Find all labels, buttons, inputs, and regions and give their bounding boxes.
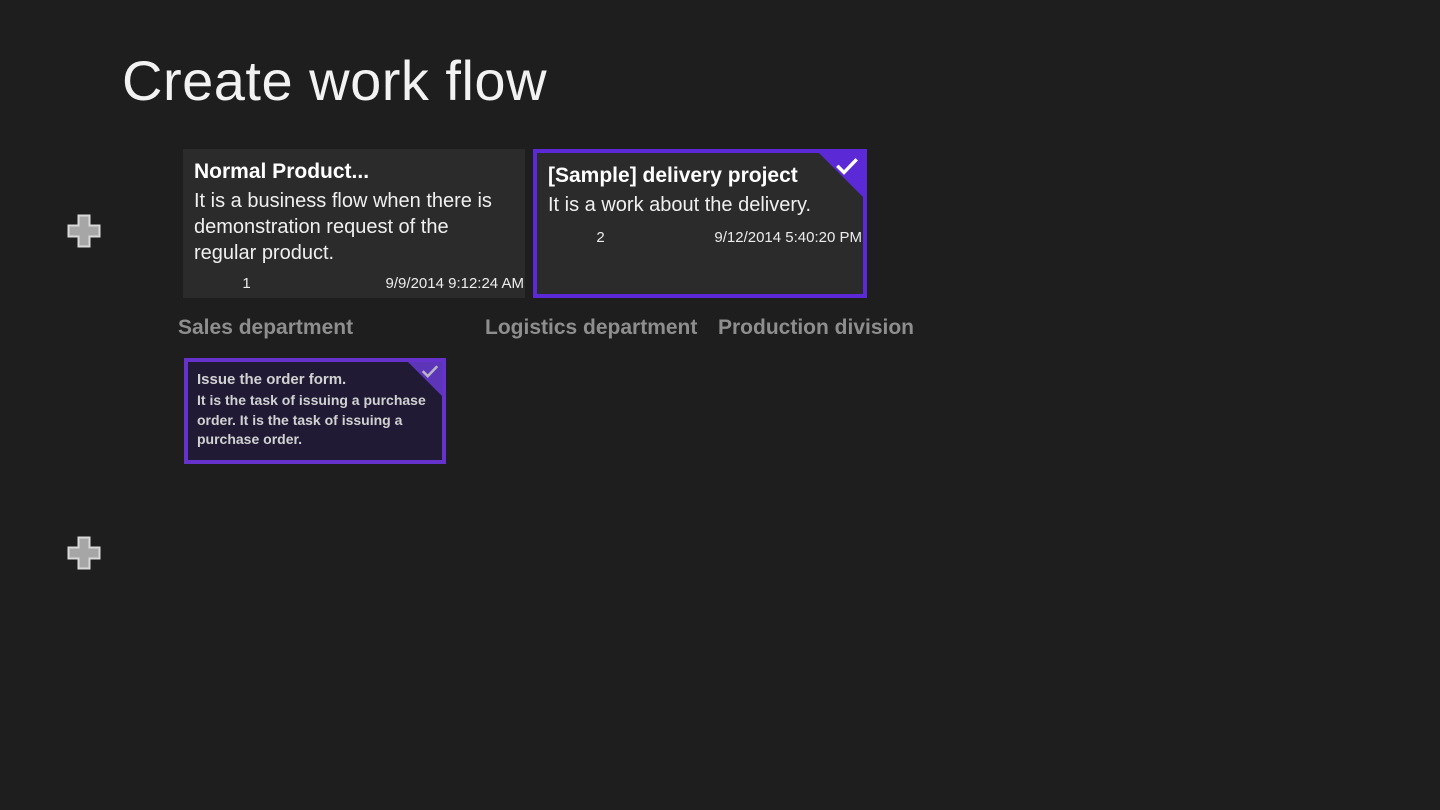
flow-card-sample-delivery-project[interactable]: [Sample] delivery project It is a work a… [533, 149, 867, 298]
flow-card-meta: 2 9/12/2014 5:40:20 PM [548, 229, 863, 246]
page-title: Create work flow [122, 50, 547, 112]
task-card-body: Issue the order form. It is the task of … [188, 362, 442, 460]
task-card-description: It is the task of issuing a purchase ord… [197, 391, 432, 449]
plus-icon [67, 214, 101, 248]
flow-card-description: It is a work about the delivery. [548, 192, 851, 218]
add-task-row-button[interactable] [67, 536, 101, 570]
task-card-issue-order-form[interactable]: Issue the order form. It is the task of … [184, 358, 446, 464]
department-label-sales: Sales department [178, 316, 353, 340]
flow-card-count: 2 [548, 229, 653, 246]
plus-icon [67, 536, 101, 570]
flow-card-meta: 1 9/9/2014 9:12:24 AM [194, 275, 525, 292]
department-label-production: Production division [718, 316, 914, 340]
flow-card-timestamp: 9/12/2014 5:40:20 PM [653, 229, 863, 246]
department-label-logistics: Logistics department [485, 316, 697, 340]
flow-card-body: [Sample] delivery project It is a work a… [537, 153, 863, 294]
flow-card-normal-product[interactable]: Normal Product... It is a business flow … [183, 149, 525, 298]
flow-card-timestamp: 9/9/2014 9:12:24 AM [299, 275, 525, 292]
task-card-title: Issue the order form. [197, 370, 432, 390]
add-work-flow-button[interactable] [67, 214, 101, 248]
flow-card-title: Normal Product... [194, 159, 513, 185]
flow-card-title: [Sample] delivery project [548, 163, 851, 189]
flow-card-body: Normal Product... It is a business flow … [183, 149, 525, 298]
flow-card-description: It is a business flow when there is demo… [194, 188, 513, 266]
flow-card-count: 1 [194, 275, 299, 292]
